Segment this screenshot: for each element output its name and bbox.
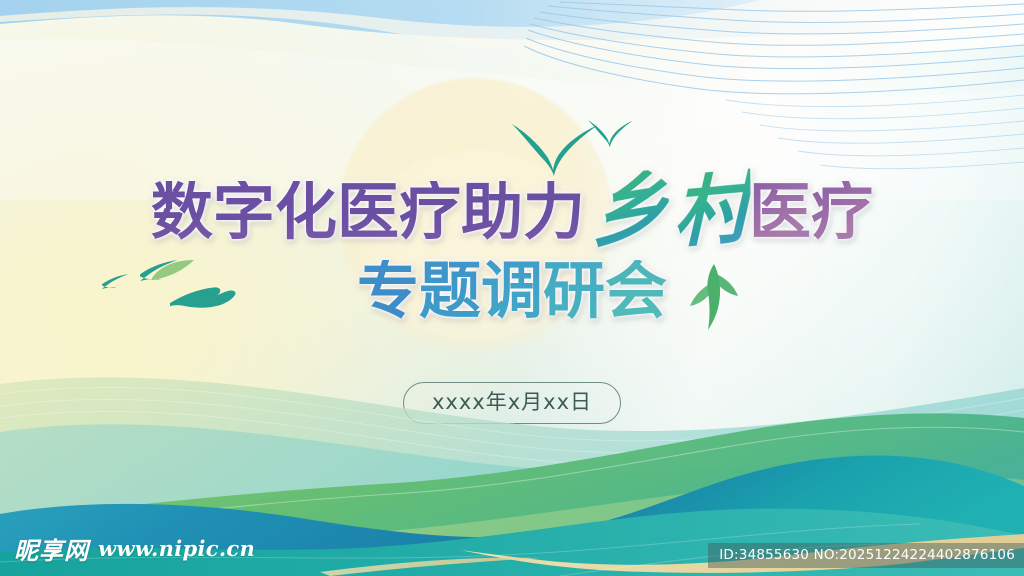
title-line-2: 专题调研会 — [0, 260, 1024, 323]
bird-icon — [588, 120, 633, 147]
title-char: 化 — [275, 181, 337, 243]
watermark: 昵享网 www.nipic.cn — [14, 531, 255, 566]
title-char: 字 — [213, 181, 275, 243]
title-char-brush: 乡 — [590, 169, 669, 254]
title-char: 医 — [749, 181, 811, 243]
title-char: 调 — [481, 260, 543, 322]
title-char: 专 — [357, 260, 419, 322]
title-char: 助 — [461, 181, 523, 243]
title-line-1: 数字化医疗助力乡村医疗 — [0, 168, 1024, 246]
page-title: 数字化医疗助力乡村医疗 专题调研会 — [0, 168, 1024, 323]
footer-id-label: ID:34855630 NO:20251224224402876106 — [708, 543, 1024, 568]
title-char: 力 — [523, 181, 585, 243]
title-char: 会 — [605, 260, 667, 322]
title-char: 数 — [151, 181, 213, 243]
poster-canvas: 数字化医疗助力乡村医疗 专题调研会 xxxx年x月xx日 — [0, 0, 1024, 576]
title-char: 研 — [543, 260, 605, 322]
title-char: 医 — [337, 181, 399, 243]
watermark-logo: 昵享网 — [14, 531, 89, 566]
watermark-url: www.nipic.cn — [98, 536, 255, 561]
title-char: 题 — [419, 260, 481, 322]
title-char: 疗 — [811, 181, 873, 243]
title-char-brush: 村 — [672, 169, 751, 254]
title-char: 疗 — [399, 181, 461, 243]
